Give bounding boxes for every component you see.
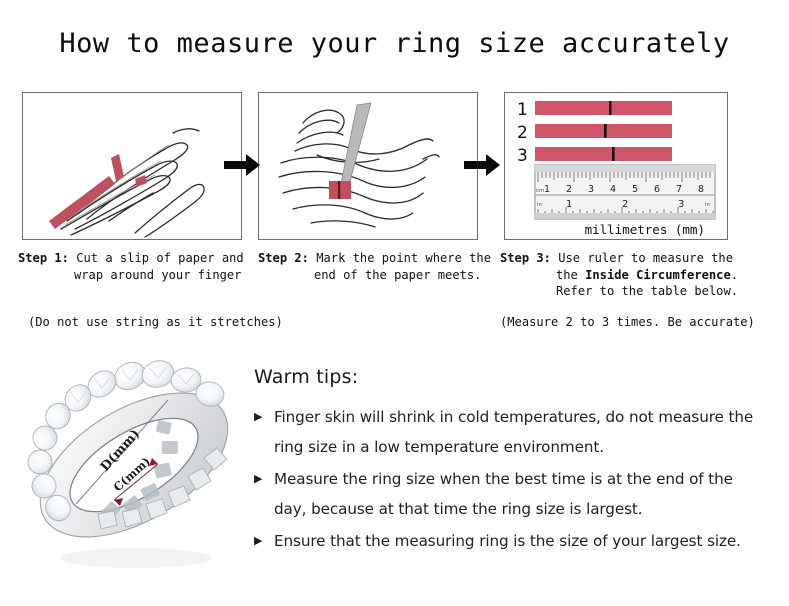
hand-with-paper-slip-drawing	[23, 93, 241, 239]
page-title: How to measure your ring size accurately	[0, 28, 789, 59]
step-3-line3: Refer to the table below.	[500, 283, 738, 300]
step-2-line2: end of the paper meets.	[258, 267, 491, 284]
tip-text: Measure the ring size when the best time…	[274, 470, 733, 518]
svg-text:3: 3	[678, 199, 684, 210]
svg-text:3: 3	[517, 146, 528, 166]
step-1-caption: Step 1: Cut a slip of paper andwrap arou…	[18, 250, 244, 283]
ruler: 12 34 56 78 cm 12 3 in in	[535, 165, 715, 219]
step-1-illustration-panel	[22, 92, 242, 240]
arrow-step1-to-step2	[222, 152, 262, 178]
svg-text:2: 2	[566, 184, 572, 195]
measuring-strips-and-ruler: 1 2 3	[505, 93, 727, 239]
infographic-page: How to measure your ring size accurately	[0, 0, 789, 606]
svg-text:6: 6	[654, 184, 660, 195]
step-1-line1: Cut a slip of paper and	[69, 251, 244, 265]
paper-slip-on-finger	[329, 181, 351, 199]
svg-text:8: 8	[698, 184, 704, 195]
step-1-line2: wrap around your finger	[18, 267, 244, 284]
svg-text:7: 7	[676, 184, 682, 195]
paper-strip-row-3: 3	[517, 146, 672, 166]
step-1-label: Step 1:	[18, 251, 69, 265]
step-3-caption: Step 3: Use ruler to measure thethe Insi…	[500, 250, 738, 300]
step-3-label: Step 3:	[500, 251, 551, 265]
tip-text: Finger skin will shrink in cold temperat…	[274, 408, 753, 456]
paper-strip-row-1: 1	[517, 100, 672, 120]
svg-text:1: 1	[517, 100, 528, 120]
tip-item: ▶ Measure the ring size when the best ti…	[254, 464, 754, 524]
step-3-line1: Use ruler to measure the	[551, 251, 733, 265]
svg-text:5: 5	[632, 184, 638, 195]
step-2-label: Step 2:	[258, 251, 309, 265]
triangle-bullet-icon: ▶	[254, 464, 262, 494]
step-1-note: (Do not use string as it stretches)	[28, 315, 283, 329]
svg-text:2: 2	[517, 123, 528, 143]
ruler-unit-caption: millimetres (mm)	[585, 222, 705, 237]
warm-tips-section: Warm tips: ▶ Finger skin will shrink in …	[254, 366, 754, 558]
hand-with-pen-marking-drawing	[259, 93, 477, 239]
triangle-bullet-icon: ▶	[254, 526, 262, 556]
svg-text:3: 3	[588, 184, 594, 195]
svg-text:1: 1	[566, 199, 572, 210]
step-2-line1: Mark the point where the	[309, 251, 491, 265]
step-3-illustration-panel: 1 2 3	[504, 92, 728, 240]
step-2-caption: Step 2: Mark the point where theend of t…	[258, 250, 491, 283]
inside-circumference-emphasis: Inside Circumference	[585, 268, 731, 282]
tip-text: Ensure that the measuring ring is the si…	[274, 532, 741, 550]
svg-text:4: 4	[610, 184, 616, 195]
tip-item: ▶ Ensure that the measuring ring is the …	[254, 526, 754, 556]
step-3-line2: the Inside Circumference.	[500, 267, 738, 284]
svg-text:in: in	[537, 202, 543, 208]
svg-text:1: 1	[544, 184, 550, 195]
svg-text:2: 2	[622, 199, 628, 210]
svg-text:in: in	[705, 202, 711, 208]
step-3-note: (Measure 2 to 3 times. Be accurate)	[500, 315, 755, 329]
arrow-step2-to-step3	[462, 152, 502, 178]
ring-diagram-photo: D(mm) C(mm)	[18, 352, 250, 578]
step-2-illustration-panel	[258, 92, 478, 240]
triangle-bullet-icon: ▶	[254, 402, 262, 432]
warm-tips-heading: Warm tips:	[254, 366, 754, 388]
paper-strip-row-2: 2	[517, 123, 672, 143]
tip-item: ▶ Finger skin will shrink in cold temper…	[254, 402, 754, 462]
svg-text:cm: cm	[536, 188, 544, 194]
